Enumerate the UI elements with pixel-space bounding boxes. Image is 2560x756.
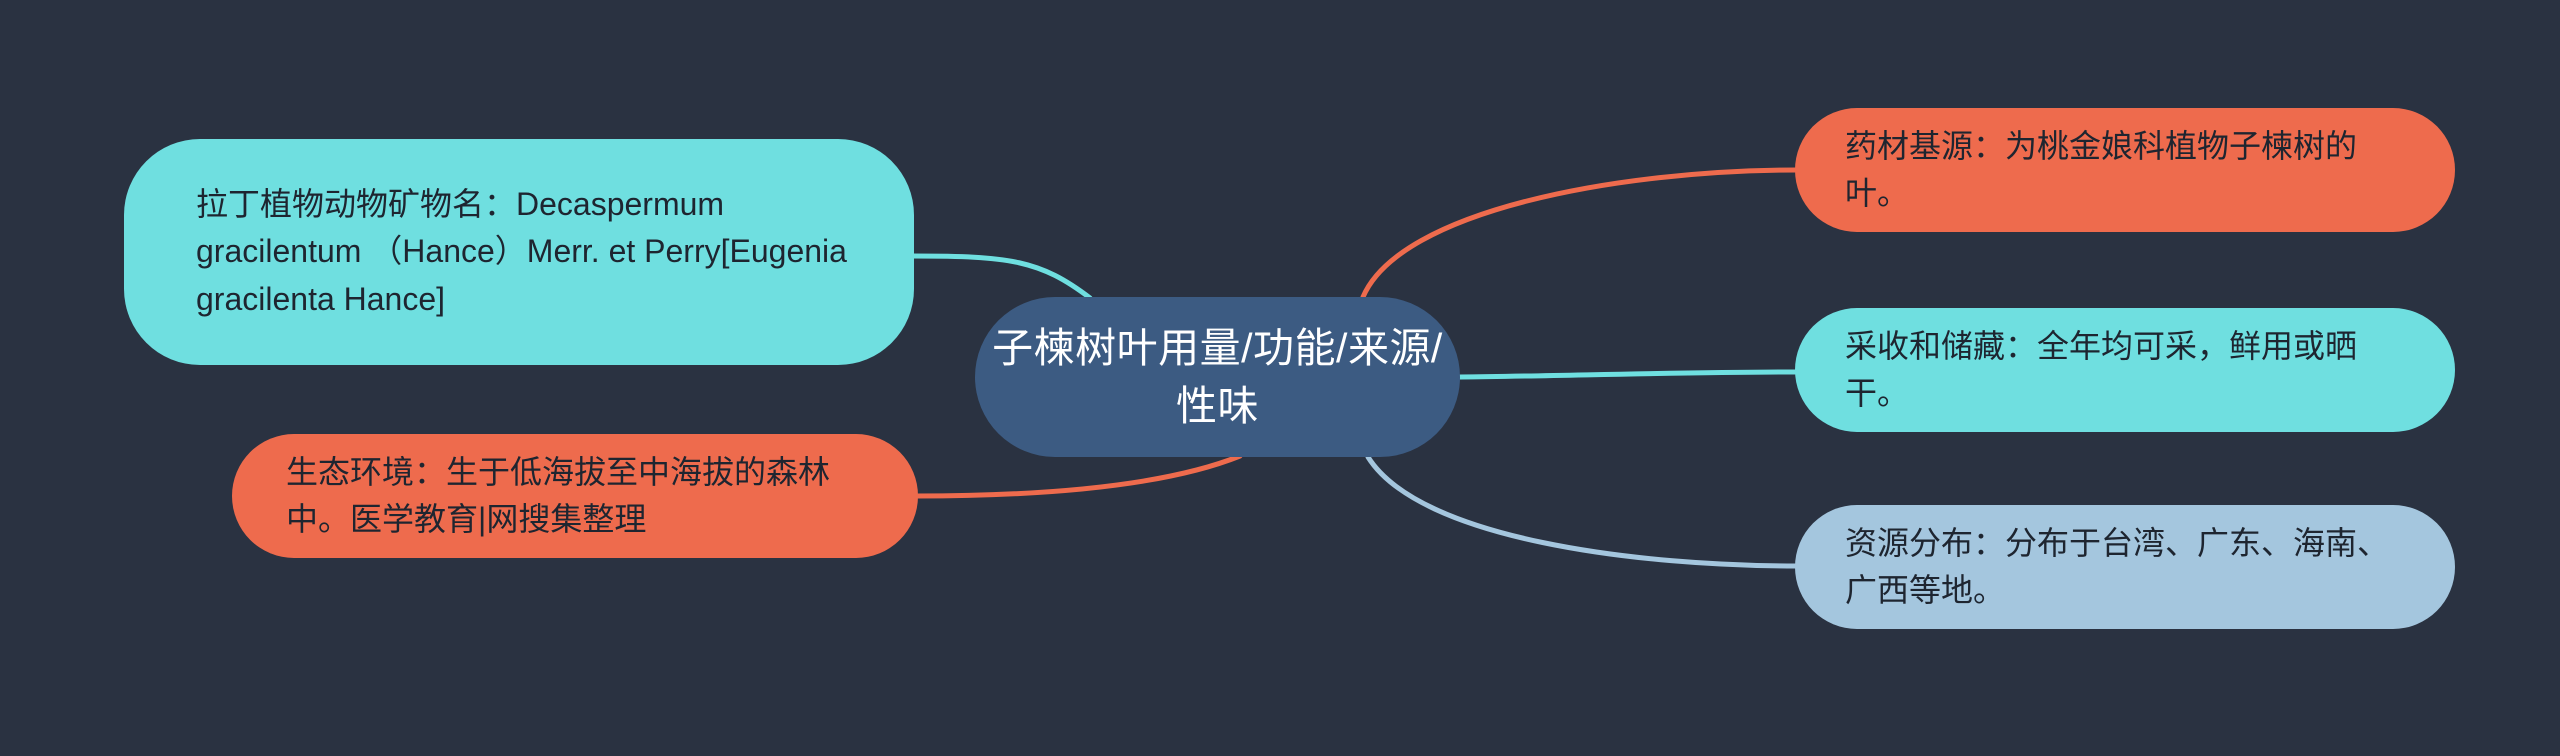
branch-node-resource-distribution-label: 资源分布：分布于台湾、广东、海南、广西等地。 bbox=[1845, 520, 2415, 614]
center-node-label: 子楝树叶用量/功能/来源/性味 bbox=[975, 319, 1460, 435]
mindmap-canvas: 拉丁植物动物矿物名：Decaspermum gracilentum （Hance… bbox=[0, 0, 2560, 756]
connector-ecology bbox=[916, 456, 1240, 496]
branch-node-ecology-label: 生态环境：生于低海拔至中海拔的森林中。医学教育|网搜集整理 bbox=[286, 449, 870, 543]
connector-drug-source bbox=[1363, 170, 1797, 297]
connector-latin-name bbox=[912, 256, 1090, 298]
connector-resource-distribution bbox=[1368, 457, 1797, 566]
branch-node-harvest-storage-label: 采收和储藏：全年均可采，鲜用或晒干。 bbox=[1845, 323, 2415, 417]
branch-node-harvest-storage[interactable]: 采收和储藏：全年均可采，鲜用或晒干。 bbox=[1795, 308, 2455, 432]
center-node[interactable]: 子楝树叶用量/功能/来源/性味 bbox=[975, 297, 1460, 457]
branch-node-resource-distribution[interactable]: 资源分布：分布于台湾、广东、海南、广西等地。 bbox=[1795, 505, 2455, 629]
branch-node-drug-source-label: 药材基源：为桃金娘科植物子楝树的叶。 bbox=[1845, 123, 2415, 217]
branch-node-drug-source[interactable]: 药材基源：为桃金娘科植物子楝树的叶。 bbox=[1795, 108, 2455, 232]
branch-node-latin-name[interactable]: 拉丁植物动物矿物名：Decaspermum gracilentum （Hance… bbox=[124, 139, 914, 365]
branch-node-ecology[interactable]: 生态环境：生于低海拔至中海拔的森林中。医学教育|网搜集整理 bbox=[232, 434, 918, 558]
branch-node-latin-name-label: 拉丁植物动物矿物名：Decaspermum gracilentum （Hance… bbox=[196, 181, 852, 322]
connector-harvest-storage bbox=[1460, 372, 1797, 377]
